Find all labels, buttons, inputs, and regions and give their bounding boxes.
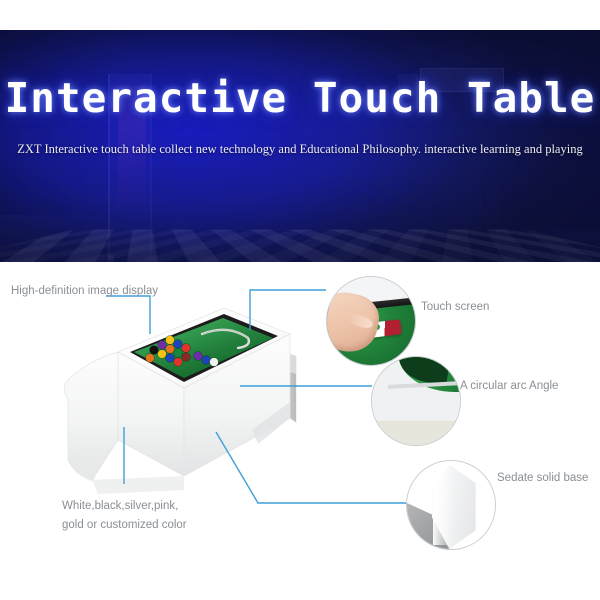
callout-label-touch-screen: Touch screen: [421, 298, 489, 317]
arc-angle-closeup-art: [372, 357, 460, 445]
callout-bubble-arc-angle: [371, 356, 461, 446]
callout-bubble-touch-screen: [326, 276, 416, 366]
banner-title: Interactive Touch Table: [5, 78, 596, 119]
connector-hd-display: [106, 296, 150, 334]
product-infographic-page: Interactive Touch Table ZXT Interactive …: [0, 0, 600, 600]
sedate-base-closeup-art: [407, 461, 495, 549]
callout-connector-lines: [0, 262, 600, 600]
banner-content: Interactive Touch Table ZXT Interactive …: [0, 30, 600, 262]
connector-touch-screen: [250, 290, 326, 330]
hero-banner: Interactive Touch Table ZXT Interactive …: [0, 30, 600, 262]
product-diagram: High-definition image display Touch scre…: [0, 262, 600, 600]
callout-label-circular-arc-angle: A circular arc Angle: [460, 377, 558, 396]
callout-label-sedate-solid-base: Sedate solid base: [497, 469, 588, 488]
touch-screen-closeup-art: [327, 277, 415, 365]
banner-subtitle: ZXT Interactive touch table collect new …: [17, 139, 582, 161]
callout-label-color-options: White,black,silver,pink, gold or customi…: [62, 497, 187, 535]
callout-label-high-definition-image-display: High-definition image display: [11, 282, 158, 301]
bubble-base-highlight: [433, 466, 452, 545]
callout-bubble-sedate-base: [406, 460, 496, 550]
